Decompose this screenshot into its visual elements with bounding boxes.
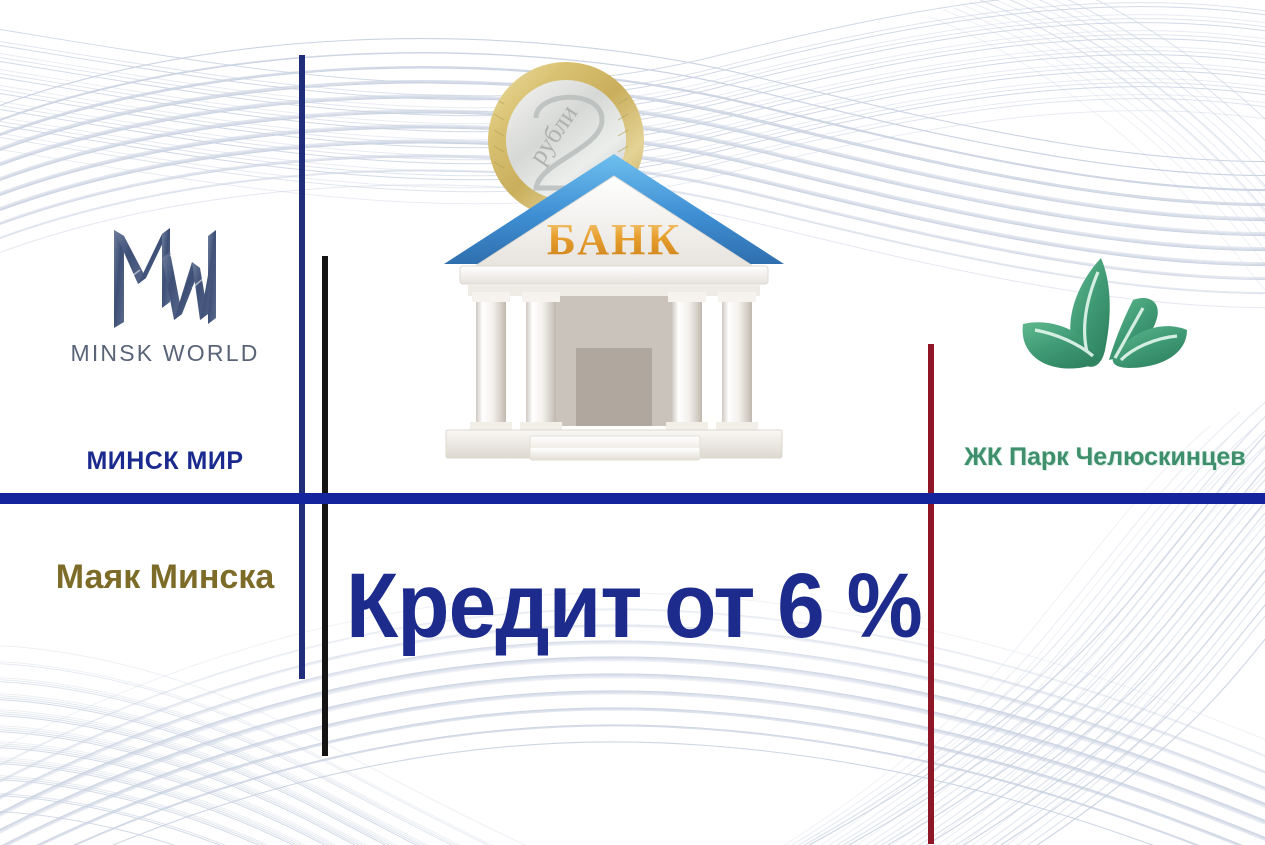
bank-building-icon: рубли БАНК (424, 58, 804, 468)
divider-black-vertical (322, 256, 328, 756)
bank-steps (530, 436, 700, 460)
divider-red-vertical (928, 344, 934, 844)
park-chelyuskintsev-logo-block (955, 250, 1255, 400)
green-leaf-logo-icon (1005, 250, 1205, 400)
bank-pediment-text: БАНК (547, 215, 681, 264)
minsk-world-wordmark: MINSK WORLD (45, 340, 285, 367)
credit-offer-banner: MINSK WORLD МИНСК МИР Маяк Минска (0, 0, 1265, 845)
divider-navy-vertical (299, 55, 305, 679)
mayak-minska-label: Маяк Минска (40, 558, 290, 597)
mw-monogram-icon (100, 222, 230, 330)
headline-credit-rate: Кредит от 6 % (346, 560, 885, 652)
park-chelyuskintsev-label: ЖК Парк Челюскинцев (950, 443, 1260, 472)
minsk-world-logo-block: MINSK WORLD (45, 222, 285, 367)
minsk-mir-label: МИНСК МИР (45, 447, 285, 476)
divider-navy-horizontal (0, 493, 1265, 504)
